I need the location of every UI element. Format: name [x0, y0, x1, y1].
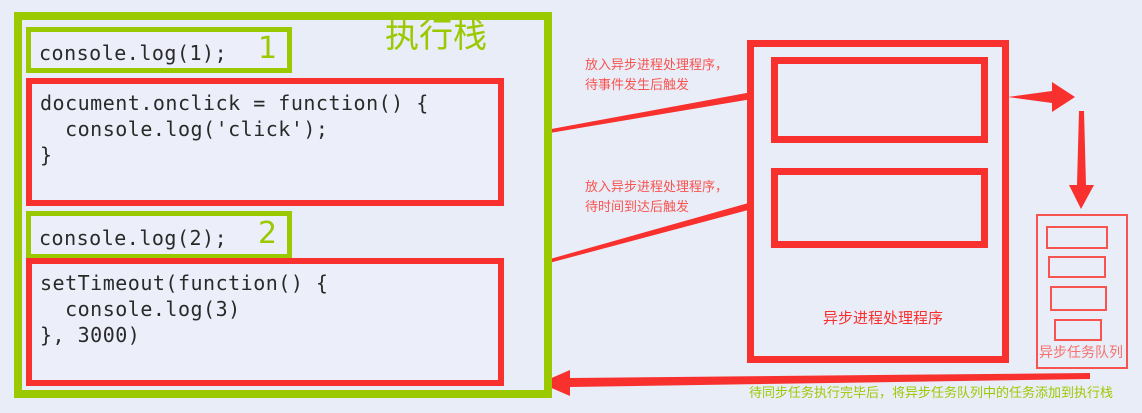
execution-stack-title: 执行栈 [385, 16, 487, 56]
code-line: document.onclick = function() { [40, 90, 498, 116]
code-line: setTimeout(function() { [40, 270, 498, 296]
code-line: console.log(3) [40, 296, 498, 322]
async-process-label: 异步进程处理程序 [798, 308, 968, 328]
annotation-line: 待事件发生后触发 [585, 76, 728, 96]
code-block-onclick[interactable]: document.onclick = function() { console.… [26, 78, 504, 206]
arrow-async-to-right [1008, 82, 1075, 112]
annotation-line: 放入异步进程处理程序， [585, 178, 728, 198]
queue-item[interactable] [1050, 286, 1107, 311]
queue-item[interactable] [1054, 319, 1102, 341]
code-block-log1[interactable]: console.log(1); [26, 27, 292, 73]
code-line: console.log(2); [39, 225, 287, 251]
arrow-down-to-queue [1069, 111, 1094, 209]
code-line: console.log(1); [39, 40, 287, 66]
code-line: } [40, 142, 498, 168]
annotation-timer-handler: 放入异步进程处理程序， 待时间到达后触发 [585, 178, 728, 218]
code-block-log2[interactable]: console.log(2); [26, 211, 292, 259]
async-process-slot-timer[interactable] [771, 168, 988, 248]
async-process-slot-event[interactable] [771, 57, 988, 143]
code-line: }, 3000) [40, 322, 498, 348]
annotation-line: 放入异步进程处理程序， [585, 56, 728, 76]
annotation-event-handler: 放入异步进程处理程序， 待事件发生后触发 [585, 56, 728, 96]
queue-item[interactable] [1048, 256, 1106, 278]
step-marker-2: 2 [258, 219, 277, 249]
code-line: console.log('click'); [40, 116, 498, 142]
code-block-settimeout[interactable]: setTimeout(function() { console.log(3) }… [26, 258, 504, 386]
step-marker-1: 1 [258, 34, 277, 64]
annotation-event-loop: 待同步任务执行完毕后，将异步任务队列中的任务添加到执行栈 [749, 385, 1113, 403]
queue-item[interactable] [1046, 226, 1108, 249]
annotation-line: 待时间到达后触发 [585, 198, 728, 218]
async-task-queue-label: 异步任务队列 [1031, 344, 1131, 362]
